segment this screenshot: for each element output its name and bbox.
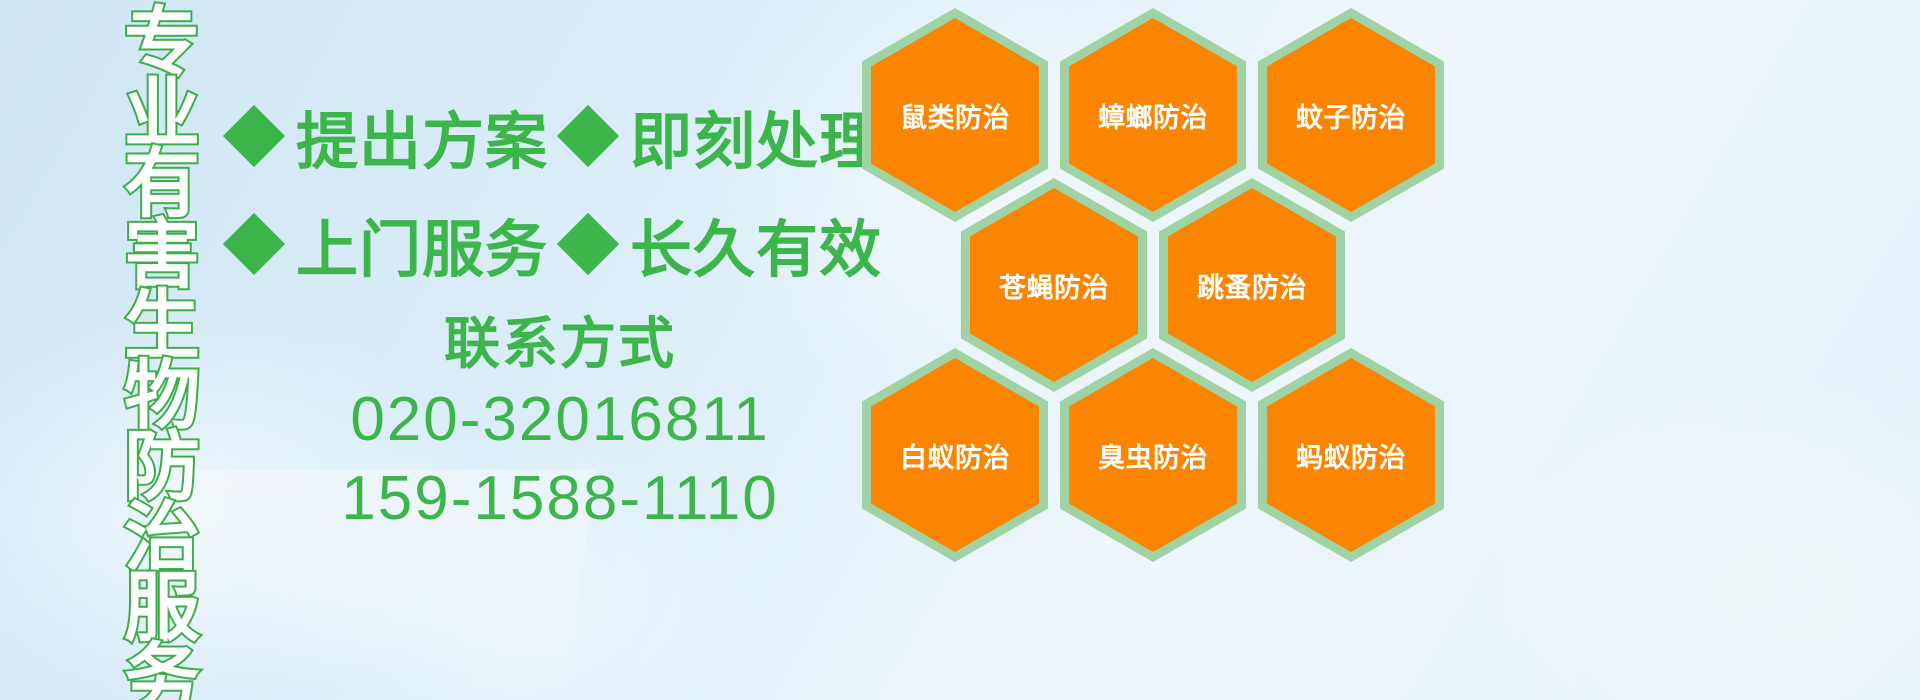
diamond-icon [223, 213, 285, 275]
diamond-icon [223, 105, 285, 167]
diamond-icon [557, 105, 619, 167]
feature-item: 长久有效 [566, 199, 882, 289]
service-hex-bedbug[interactable]: 臭虫防治 [1060, 348, 1246, 562]
feature-list: 提出方案 即刻处理 上门服务 长久有效 [232, 82, 872, 298]
service-hex-label: 蚊子防治 [1296, 96, 1406, 135]
service-hex-fill: 苍蝇防治 [970, 188, 1138, 382]
service-hex-flea[interactable]: 跳蚤防治 [1159, 178, 1345, 392]
service-hex-fill: 蚂蚁防治 [1267, 358, 1435, 552]
feature-item: 提出方案 [232, 91, 548, 181]
service-hex-mosquito[interactable]: 蚊子防治 [1258, 8, 1444, 222]
feature-row: 上门服务 长久有效 [232, 190, 872, 298]
service-honeycomb: 鼠类防治 蟑螂防治 蚊子防治 苍蝇防治 跳蚤防治 白蚁防 [862, 0, 1462, 700]
service-hex-ant[interactable]: 蚂蚁防治 [1258, 348, 1444, 562]
background-glow-right [1480, 380, 1920, 700]
service-hex-fill: 白蚁防治 [871, 358, 1039, 552]
feature-label: 即刻处理 [630, 91, 882, 181]
service-hex-label: 臭虫防治 [1098, 436, 1208, 475]
contact-phone-mobile[interactable]: 159-1588-1110 [300, 459, 820, 538]
diamond-icon [557, 213, 619, 275]
service-hex-fill: 臭虫防治 [1069, 358, 1237, 552]
service-hex-label: 白蚁防治 [900, 436, 1010, 475]
feature-label: 长久有效 [630, 199, 882, 289]
service-hex-fill: 鼠类防治 [871, 18, 1039, 212]
promo-banner: 专 业 有 害 生 物 防 治 服 务 提出方案 即刻处理 上门服务 [0, 0, 1920, 700]
service-hex-fill: 蟑螂防治 [1069, 18, 1237, 212]
feature-item: 即刻处理 [566, 91, 882, 181]
service-hex-label: 苍蝇防治 [999, 266, 1109, 305]
vertical-headline: 专 业 有 害 生 物 防 治 服 务 [108, 8, 216, 588]
feature-label: 上门服务 [296, 199, 548, 289]
service-hex-fill: 蚊子防治 [1267, 18, 1435, 212]
contact-block: 联系方式 020-32016811 159-1588-1110 [300, 310, 820, 539]
service-hex-label: 蚂蚁防治 [1296, 436, 1406, 475]
service-hex-rodent[interactable]: 鼠类防治 [862, 8, 1048, 222]
vertical-headline-char: 务 [124, 644, 200, 700]
service-hex-label: 鼠类防治 [900, 96, 1010, 135]
service-hex-label: 跳蚤防治 [1197, 266, 1307, 305]
feature-row: 提出方案 即刻处理 [232, 82, 872, 190]
service-hex-fly[interactable]: 苍蝇防治 [961, 178, 1147, 392]
service-hex-fill: 跳蚤防治 [1168, 188, 1336, 382]
contact-phone-landline[interactable]: 020-32016811 [300, 380, 820, 459]
service-hex-termite[interactable]: 白蚁防治 [862, 348, 1048, 562]
feature-item: 上门服务 [232, 199, 548, 289]
service-hex-label: 蟑螂防治 [1098, 96, 1208, 135]
service-hex-cockroach[interactable]: 蟑螂防治 [1060, 8, 1246, 222]
feature-label: 提出方案 [296, 91, 548, 181]
contact-title: 联系方式 [300, 310, 820, 380]
